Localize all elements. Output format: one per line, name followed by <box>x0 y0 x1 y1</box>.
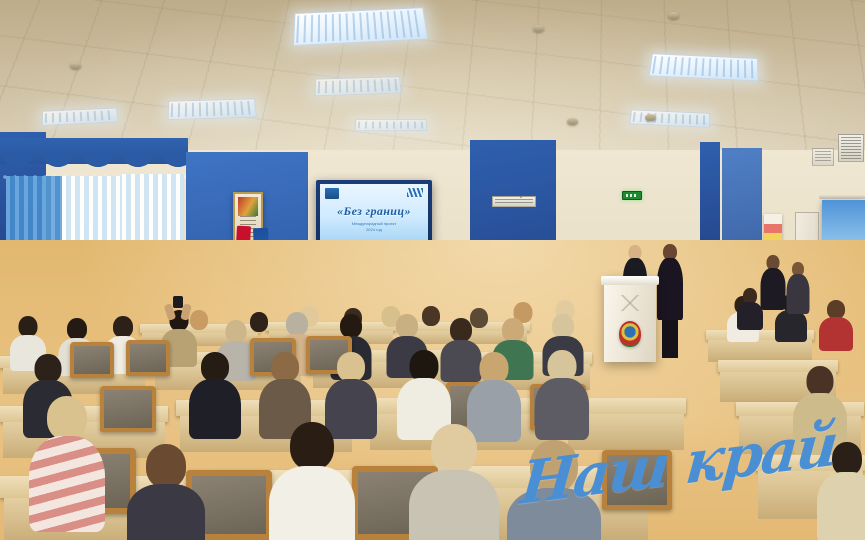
ceiling-lamp <box>293 7 428 46</box>
smoke-detector-icon <box>70 62 81 69</box>
slide-subtitle: Международный проект 2024 год <box>329 221 420 234</box>
audience-chair[interactable] <box>70 342 114 378</box>
ventilation-grille-divider <box>520 196 522 198</box>
smoke-detector-icon <box>668 12 679 19</box>
ventilation-grille <box>492 196 536 207</box>
audience-member-foreground <box>28 396 106 526</box>
ceiling-lamp <box>355 119 428 131</box>
speaker-second <box>656 244 684 354</box>
smoke-detector-icon <box>645 114 656 121</box>
standing-attendee <box>760 255 786 317</box>
audience-chair[interactable] <box>126 340 170 376</box>
audience-chair[interactable] <box>100 386 156 432</box>
slide-logo-left-icon <box>325 188 339 199</box>
audience-member-foreground <box>408 424 500 540</box>
speaker-podium <box>604 276 656 362</box>
wall-panel-blue <box>700 142 720 252</box>
slide-title: «Без границ» <box>320 204 428 219</box>
ceiling-lamp <box>315 76 402 96</box>
wall-panel-blue <box>722 148 762 248</box>
emergency-exit-sign-icon <box>622 191 642 200</box>
smoke-detector-icon <box>567 118 578 125</box>
audience-member <box>818 300 854 350</box>
smartphone[interactable] <box>173 296 183 308</box>
audience-member-foreground <box>268 422 356 540</box>
audience-member <box>534 350 590 436</box>
ceiling-lamp <box>167 98 257 120</box>
audience-member-foreground <box>126 444 206 540</box>
slide-logo-right-icon <box>407 188 423 197</box>
conference-hall-photo: «Без границ» Международный проект 2024 г… <box>0 0 865 540</box>
audience-member <box>188 352 242 434</box>
curtain-valance <box>0 138 188 164</box>
standing-attendee <box>786 262 810 320</box>
ventilation-grille <box>812 148 834 166</box>
ventilation-grille <box>838 134 864 162</box>
belarus-coat-of-arms-icon <box>619 321 641 347</box>
smoke-detector-icon <box>533 25 544 32</box>
